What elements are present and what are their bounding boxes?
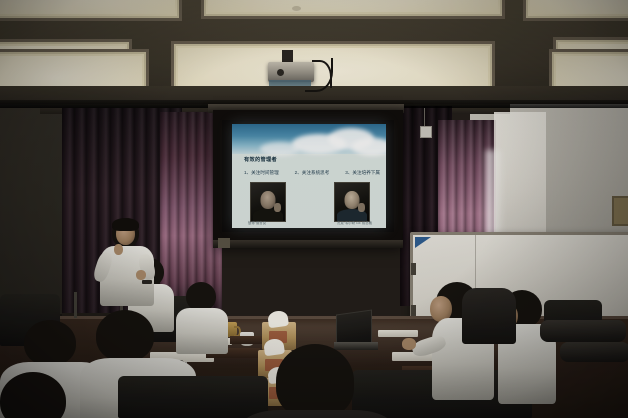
attendee-head [276, 344, 354, 418]
attendee-torso [462, 288, 516, 344]
slide-item-3: 3、关注培养下属 [345, 170, 380, 176]
ceiling-light-panel [208, 0, 498, 12]
laptop-base[interactable] [334, 342, 378, 350]
slide-bullet-list: 1、关注时间管理 2、关注系统思考 3、关注培养下属 [244, 170, 380, 176]
light-switch[interactable] [420, 126, 432, 138]
attendee-torso [176, 308, 228, 354]
chair-post [74, 292, 77, 318]
attendee-head [96, 310, 154, 362]
attendee-head [186, 282, 216, 311]
presenter-hair [112, 218, 139, 231]
projector-lens-icon [277, 69, 284, 76]
switch-wire [424, 108, 425, 128]
slide-title: 有效的管理者 [244, 156, 277, 163]
screen-clip [218, 238, 230, 248]
cloud-shape [260, 142, 300, 156]
cloud-shape [352, 138, 386, 156]
slide-caption-left: 彼得·德鲁克 [248, 220, 266, 225]
slide-caption-group: 彼得·德鲁克 杰克·韦尔奇 GE 前总裁 [248, 220, 372, 225]
notepad[interactable] [378, 330, 418, 337]
slide-portrait-group [250, 182, 370, 220]
slide-portrait-right [334, 182, 370, 222]
slide-item-2: 2、关注系统思考 [295, 170, 330, 176]
slide-portrait-left [250, 182, 286, 222]
presentation-slide: 有效的管理者 1、关注时间管理 2、关注系统思考 3、关注培养下属 [232, 124, 386, 228]
attendee-torso [242, 410, 392, 418]
ceiling-light-panel [0, 0, 175, 14]
slide-caption-right: 杰克·韦尔奇 GE 前总裁 [337, 220, 372, 225]
tissue [267, 310, 289, 329]
attendee-hand [402, 338, 416, 350]
ceiling-light-panel [530, 0, 628, 14]
attendee-head [24, 320, 76, 366]
wall-frame [612, 196, 628, 226]
presenter-hand-right [136, 270, 146, 280]
office-chair[interactable] [118, 376, 268, 418]
portrait-hand [274, 203, 281, 212]
portrait-hand [358, 203, 365, 212]
smoke-detector-icon [292, 6, 301, 11]
whiteboard-corner-sticker [415, 237, 431, 248]
chair-armrest[interactable] [560, 342, 628, 362]
presenter-wristwatch [142, 280, 152, 284]
left-wall [0, 104, 62, 314]
slide-item-1: 1、关注时间管理 [244, 170, 279, 176]
screen-bottom-bar [213, 240, 403, 248]
projection-screen: 有效的管理者 1、关注时间管理 2、关注系统思考 3、关注培养下属 [213, 110, 403, 246]
whiteboard-hinge [411, 263, 416, 275]
tissue [263, 338, 285, 357]
presenter-hand-left [114, 244, 123, 255]
conference-room-photo: 有效的管理者 1、关注时间管理 2、关注系统思考 3、关注培养下属 [0, 0, 628, 418]
projector-mount [282, 50, 293, 62]
chair-armrest[interactable] [540, 320, 626, 342]
